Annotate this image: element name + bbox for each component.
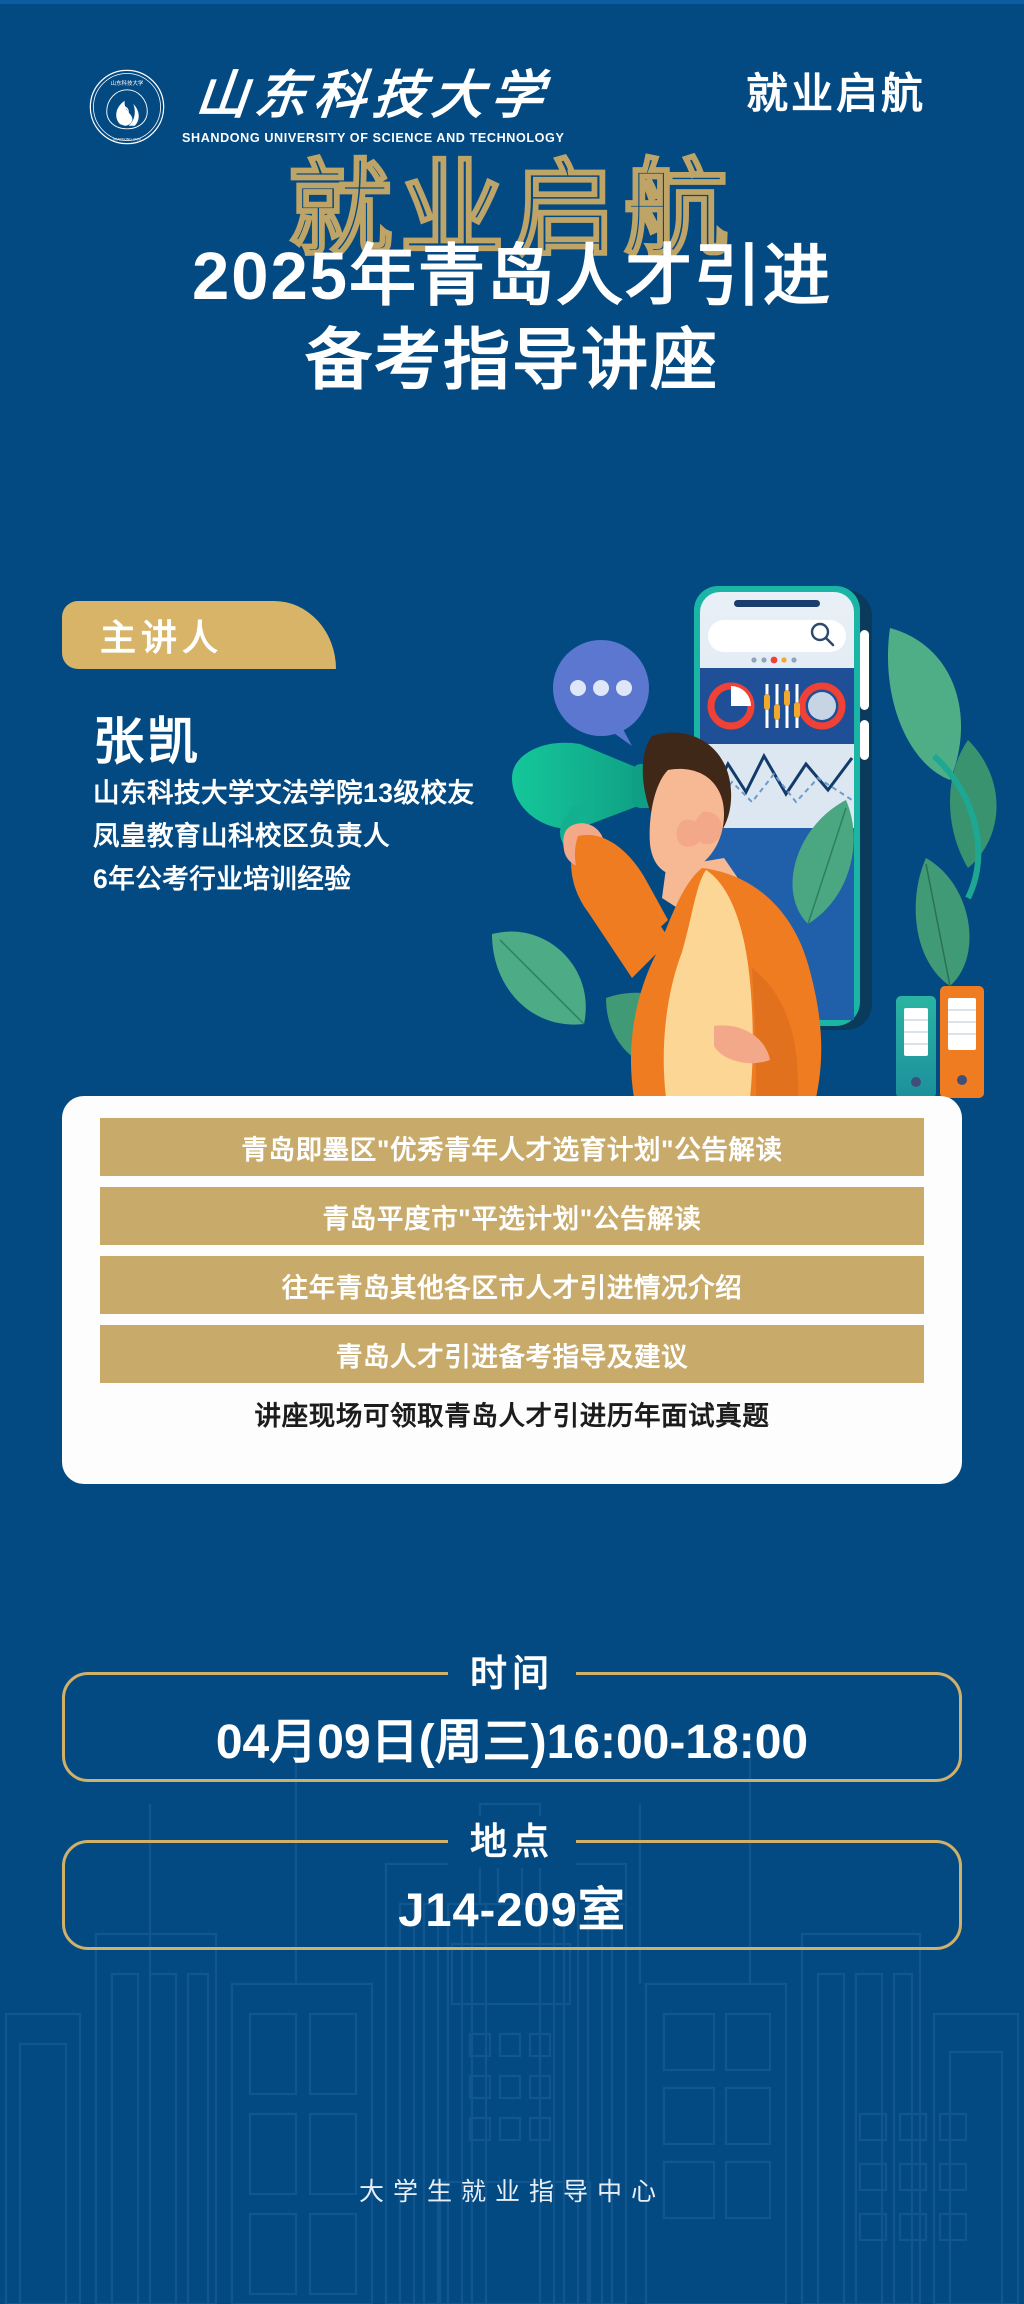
speaker-badge-label: 主讲人 [100, 601, 223, 669]
speaker-badge: 主讲人 [62, 601, 274, 669]
topics-footnote: 讲座现场可领取青岛人才引进历年面试真题 [100, 1394, 924, 1433]
topic-bar: 青岛平度市"平选计划"公告解读 [100, 1187, 924, 1245]
speaker-credential-3: 6年公考行业培训经验 [93, 858, 474, 901]
topic-bar: 青岛即墨区"优秀青年人才选育计划"公告解读 [100, 1118, 924, 1176]
university-name-group: 山东科技大学 SHANDONG UNIVERSITY OF SCIENCE AN… [182, 69, 564, 144]
folder-stack [896, 986, 984, 1098]
page-title-line-2: 备考指导讲座 [0, 320, 1024, 402]
poster-canvas: 山东科技大学 SHANDONG UNIV. 山东科技大学 SHANDONG UN… [0, 0, 1024, 2304]
topic-bar: 青岛人才引进备考指导及建议 [100, 1325, 924, 1383]
university-seal-icon: 山东科技大学 SHANDONG UNIV. [88, 68, 166, 146]
topic-label: 青岛即墨区"优秀青年人才选育计划"公告解读 [241, 1128, 782, 1167]
place-info-box: 地点 J14-209室 [62, 1840, 962, 1950]
university-logo-block: 山东科技大学 SHANDONG UNIV. 山东科技大学 SHANDONG UN… [88, 68, 564, 146]
place-value: J14-209室 [65, 1843, 959, 1953]
header-series-tag: 就业启航 [746, 60, 926, 121]
time-value: 04月09日(周三)16:00-18:00 [65, 1675, 959, 1785]
footer-organizer: 大学生就业指导中心 [0, 2172, 1024, 2208]
speaker-credentials: 山东科技大学文法学院13级校友 凤皇教育山科校区负责人 6年公考行业培训经验 [93, 772, 474, 901]
university-name-cn: 山东科技大学 [193, 69, 553, 125]
topic-label: 往年青岛其他各区市人才引进情况介绍 [282, 1266, 743, 1305]
topics-card: 青岛即墨区"优秀青年人才选育计划"公告解读 青岛平度市"平选计划"公告解读 往年… [62, 1096, 962, 1484]
speaker-name: 张凯 [93, 700, 201, 774]
page-title-line-1: 2025年青岛人才引进 [0, 236, 1024, 318]
top-accent-strip [0, 0, 1024, 4]
speaker-megaphone-illustration [456, 568, 1016, 1098]
university-name-en: SHANDONG UNIVERSITY OF SCIENCE AND TECHN… [182, 131, 564, 145]
speaker-credential-1: 山东科技大学文法学院13级校友 [93, 772, 474, 815]
poster-header: 山东科技大学 SHANDONG UNIV. 山东科技大学 SHANDONG UN… [0, 52, 1024, 162]
topic-bar: 往年青岛其他各区市人才引进情况介绍 [100, 1256, 924, 1314]
svg-text:山东科技大学: 山东科技大学 [111, 79, 144, 87]
topic-label: 青岛平度市"平选计划"公告解读 [323, 1197, 702, 1236]
speaker-credential-2: 凤皇教育山科校区负责人 [93, 815, 474, 858]
page-title: 2025年青岛人才引进 备考指导讲座 [0, 236, 1024, 401]
topic-label: 青岛人才引进备考指导及建议 [336, 1335, 688, 1374]
speech-bubble-icon [553, 640, 649, 746]
time-info-box: 时间 04月09日(周三)16:00-18:00 [62, 1672, 962, 1782]
svg-text:SHANDONG UNIV.: SHANDONG UNIV. [113, 138, 142, 142]
